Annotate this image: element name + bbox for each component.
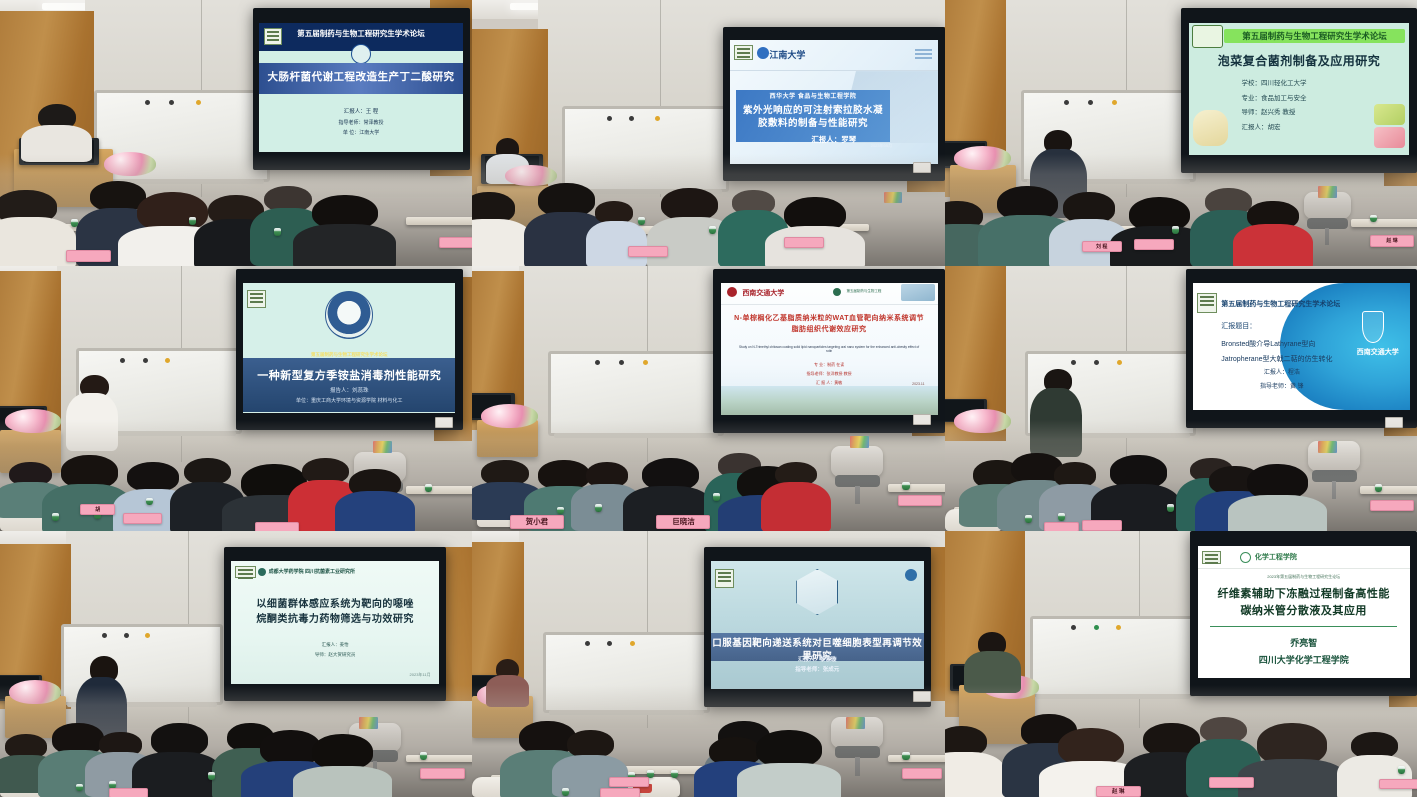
slide-line-1: 汇报人：黎紫璇 [711,656,924,664]
panel-7[interactable]: 成都大学药学院 四川抗菌素工业研究所 以细菌群体感应系统为靶向的噁唑烷酮类抗毒力… [0,531,472,797]
panel-1[interactable]: 第五届制药与生物工程研究生学术论坛 大肠杆菌代谢工程改造生产丁二酸研究 汇报人：… [0,0,472,266]
slide-footer-photo [721,386,938,414]
panel-6[interactable]: 第五届制药与生物工程研究生学术论坛 汇报题目： Bronsted酸介导Lathy… [945,266,1417,531]
namecard [1082,520,1122,531]
projection-screen[interactable]: 西南交通大学 第五届制药与生物工程 N-单棕榈化乙基脂质纳米粒的WAT血管靶向纳… [713,269,945,433]
slide-org: 成都大学药学院 四川抗菌素工业研究所 [269,568,355,575]
namecard [123,513,163,524]
audience-area: 胡 [0,420,472,531]
slide-line-2: 指导老师：张成元 [711,666,924,674]
university-emblem [757,47,769,59]
namecard [600,788,640,797]
slide-line-1: 学校：四川轻化工大学 [1242,79,1397,89]
slide-org: 西华大学 食品与生物工程学院 [736,93,890,101]
audience-area [945,420,1417,531]
slide-line-2: 导师：赵大贺研究员 [231,652,439,659]
slide-banner: 第五届制药与生物工程研究生学术论坛 [1221,299,1340,309]
namecard: 赵 琳 [1370,235,1414,247]
projection-screen[interactable]: 第五届制药与生物工程研究生学术论坛 泡菜复合菌剂制备及应用研究 学校：四川轻化工… [1181,8,1417,173]
slide-line-2: 单位：重庆工商大学环境与资源学院 材料与化工 [243,398,455,406]
slide-title: 以细菌群体感应系统为靶向的噁唑烷酮类抗毒力药物筛选与功效研究 [256,597,414,627]
slide-title-en: Study on N-Trimethyl chitosan coating so… [738,345,920,354]
slide-org: 化学工程学院 [1255,552,1297,562]
slide-line-1: 乔亮智 [1198,637,1410,651]
slide-photo-veg [1374,104,1405,125]
projection-screen[interactable]: 化学工程学院 2023年第五届制药与生物工程研究生论坛 纤维素辅助下冻融过程制备… [1190,531,1417,696]
namecard [628,246,668,257]
slide-7: 成都大学药学院 四川抗菌素工业研究所 以细菌群体感应系统为靶向的噁唑烷酮类抗毒力… [231,561,439,684]
university-emblem [727,287,737,297]
namecard [902,768,942,779]
namecard: 赵 琳 [1096,786,1140,797]
namecard [1134,239,1174,250]
namecard: 胡 [80,504,115,515]
slide-title-line1: Bronsted酸介导Lathyrane型向 [1221,339,1315,349]
audience-area [0,685,472,797]
slide-4: 第五届制药与生物工程研究生学术论坛 一种新型复方季铵盐消毒剂性能研究 报告人：刘… [243,283,455,412]
slide-title-line2: Jatropherane型大戟二萜的仿生转化 [1221,354,1332,364]
namecard [898,495,943,506]
namecard [255,522,299,531]
projection-screen[interactable]: 口服基因靶向递送系统对巨噬细胞表型再调节效果研究 汇报人：黎紫璇 指导老师：张成… [704,547,931,707]
slide-divider [1210,626,1397,627]
audience-area: 贺小君 巨晓洁 [472,420,945,531]
namecard [1209,777,1253,788]
slide-title: 泡菜复合菌剂制备及应用研究 [1189,53,1410,69]
slide-badge-icon [905,569,917,581]
slide-3: 第五届制药与生物工程研究生学术论坛 泡菜复合菌剂制备及应用研究 学校：四川轻化工… [1189,23,1410,155]
university-emblem [1240,552,1251,563]
projection-screen[interactable]: 第五届制药与生物工程研究生学术论坛 大肠杆菌代谢工程改造生产丁二酸研究 汇报人：… [253,8,470,170]
slide-line-3: 单 位：江南大学 [259,130,462,138]
namecard [109,788,149,797]
audience-area [472,154,945,266]
namecard [439,237,472,248]
slide-title: 一种新型复方季铵盐消毒剂性能研究 [243,369,455,384]
slide-8: 口服基因靶向递送系统对巨噬细胞表型再调节效果研究 汇报人：黎紫璇 指导老师：张成… [711,561,924,689]
slide-line-2: 指导老师：黄 锋 [1228,383,1336,392]
slide-date: 2023.11 [912,382,924,386]
panel-2[interactable]: 江南大学 西华大学 食品与生物工程学院 紫外光响应的可注射索拉胶水凝胶敷料的制备… [472,0,945,266]
projection-screen[interactable]: 成都大学药学院 四川抗菌素工业研究所 以细菌群体感应系统为靶向的噁唑烷酮类抗毒力… [224,547,446,701]
slide-line-1: 汇报人：程浩 [1228,369,1336,378]
audience-area [472,685,945,797]
slide-banner: 第五届制药与生物工程研究生学术论坛 [303,352,396,358]
namecard [420,768,464,779]
projection-screen[interactable]: 第五届制药与生物工程研究生学术论坛 汇报题目： Bronsted酸介导Lathy… [1186,269,1417,428]
slide-title: N-单棕榈化乙基脂质纳米粒的WAT血管靶向纳米系统调节脂肪组织代谢效应研究 [734,314,925,336]
slide-school: 西南交通大学 [1357,347,1399,357]
university-emblem [796,569,838,615]
slide-banner: 2023年第五届制药与生物工程研究生论坛 [1198,574,1410,580]
panel-4[interactable]: 第五届制药与生物工程研究生学术论坛 一种新型复方季铵盐消毒剂性能研究 报告人：刘… [0,266,472,531]
slide-6: 第五届制药与生物工程研究生学术论坛 汇报题目： Bronsted酸介导Lathy… [1193,283,1409,410]
slide-school: 江南大学 [769,48,805,61]
slide-line-1: 报告人：刘蕊珠 [243,387,455,395]
slide-date: 2023年05月 [871,143,892,149]
slide-heading: 汇报题目： [1221,321,1256,331]
panel-8[interactable]: 口服基因靶向递送系统对巨噬细胞表型再调节效果研究 汇报人：黎紫璇 指导老师：张成… [472,531,945,797]
slide-line-4: 汇报人：胡宏 [1242,123,1397,133]
panel-3[interactable]: 第五届制药与生物工程研究生学术论坛 泡菜复合菌剂制备及应用研究 学校：四川轻化工… [945,0,1417,266]
remote-video-window[interactable] [901,284,936,301]
university-emblem [1362,311,1383,344]
namecard: 巨晓洁 [656,515,710,528]
slide-title: 紫外光响应的可注射索拉胶水凝胶敷料的制备与性能研究 [738,104,888,132]
photo-montage-grid: 第五届制药与生物工程研究生学术论坛 大肠杆菌代谢工程改造生产丁二酸研究 汇报人：… [0,0,1417,797]
slide-line-2: 指导老师：张洋教授 教授 [721,371,938,377]
slide-photo-pickle [1374,127,1405,148]
panel-5[interactable]: 西南交通大学 第五届制药与生物工程 N-单棕榈化乙基脂质纳米粒的WAT血管靶向纳… [472,266,945,531]
slide-2: 江南大学 西华大学 食品与生物工程学院 紫外光响应的可注射索拉胶水凝胶敷料的制备… [730,40,938,163]
audience-area: 赵 琳 [945,685,1417,797]
namecard [1044,522,1079,531]
slide-photo-jar [1193,110,1228,146]
namecard [66,250,110,262]
namecard: 刘 程 [1082,241,1122,252]
slide-line-1: 汇报人：王 程 [259,108,462,116]
slide-line-2: 专业：食品加工与安全 [1242,94,1397,104]
panel-9[interactable]: 化学工程学院 2023年第五届制药与生物工程研究生论坛 纤维素辅助下冻融过程制备… [945,531,1417,797]
slide-line-3: 汇 报 人：黄敏 [721,380,938,386]
slide-1: 第五届制药与生物工程研究生学术论坛 大肠杆菌代谢工程改造生产丁二酸研究 汇报人：… [259,23,462,153]
slide-9: 化学工程学院 2023年第五届制药与生物工程研究生论坛 纤维素辅助下冻融过程制备… [1198,546,1410,678]
university-emblem [1192,25,1223,48]
slide-line-1: 专 业：制药 在读 [721,362,938,368]
namecard [784,237,824,248]
audience-area [0,154,472,266]
audience-area: 刘 程 赵 琳 [945,154,1417,266]
slide-line-1: 汇报人：姜怡 [231,642,439,649]
slide-title-line2: 碳纳米管分散液及其应用 [1198,604,1410,619]
slide-school: 西南交通大学 [742,288,784,298]
namecard: 贺小君 [510,515,564,528]
slide-5: 西南交通大学 第五届制药与生物工程 N-单棕榈化乙基脂质纳米粒的WAT血管靶向纳… [721,283,938,414]
university-emblem [351,44,371,64]
slide-title: 大肠杆菌代谢工程改造生产丁二酸研究 [259,70,462,84]
slide-title-line1: 纤维素辅助下冻融过程制备高性能 [1198,587,1410,602]
namecard [1370,500,1414,511]
namecard [609,777,649,787]
slide-line-3: 导师：赵兴秀 教授 [1242,108,1397,118]
slide-banner: 第五届制药与生物工程研究生学术论坛 [259,29,462,39]
slide-line-2: 指导老师：常泽教授 [259,120,462,128]
namecard [1379,779,1417,789]
slide-banner: 第五届制药与生物工程研究生学术论坛 [1224,29,1405,43]
projection-screen[interactable]: 第五届制药与生物工程研究生学术论坛 一种新型复方季铵盐消毒剂性能研究 报告人：刘… [236,269,463,431]
slide-line-2: 四川大学化学工程学院 [1198,654,1410,668]
slide-date: 2023年11月 [410,672,431,678]
university-emblem [325,291,373,339]
